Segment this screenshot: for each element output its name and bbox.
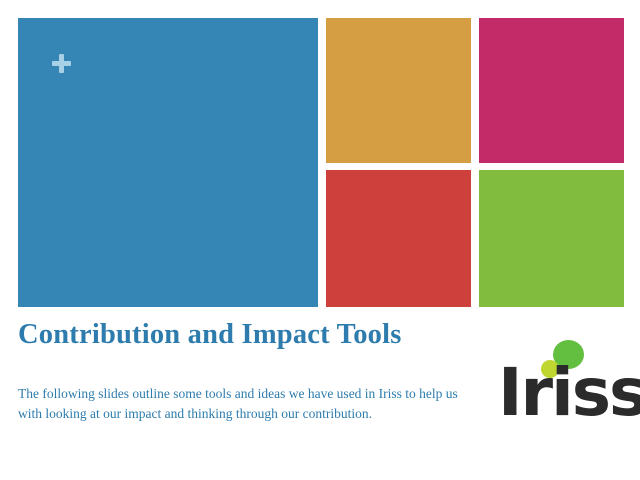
mosaic-block-blue — [18, 18, 318, 307]
presentation-slide: Contribution and Impact Tools The follow… — [0, 0, 640, 480]
mosaic-block-green — [479, 170, 624, 307]
mosaic-block-red — [326, 170, 471, 307]
slide-body-text: The following slides outline some tools … — [18, 384, 482, 423]
color-block-mosaic — [0, 0, 640, 310]
logo-wordmark: Iriss — [498, 360, 630, 426]
mosaic-block-orange — [326, 18, 471, 163]
plus-icon — [52, 54, 71, 73]
iriss-logo: Iriss — [498, 338, 630, 434]
mosaic-block-pink — [479, 18, 624, 163]
slide-title: Contribution and Impact Tools — [18, 318, 518, 352]
plus-icon-vertical-bar — [59, 54, 64, 73]
